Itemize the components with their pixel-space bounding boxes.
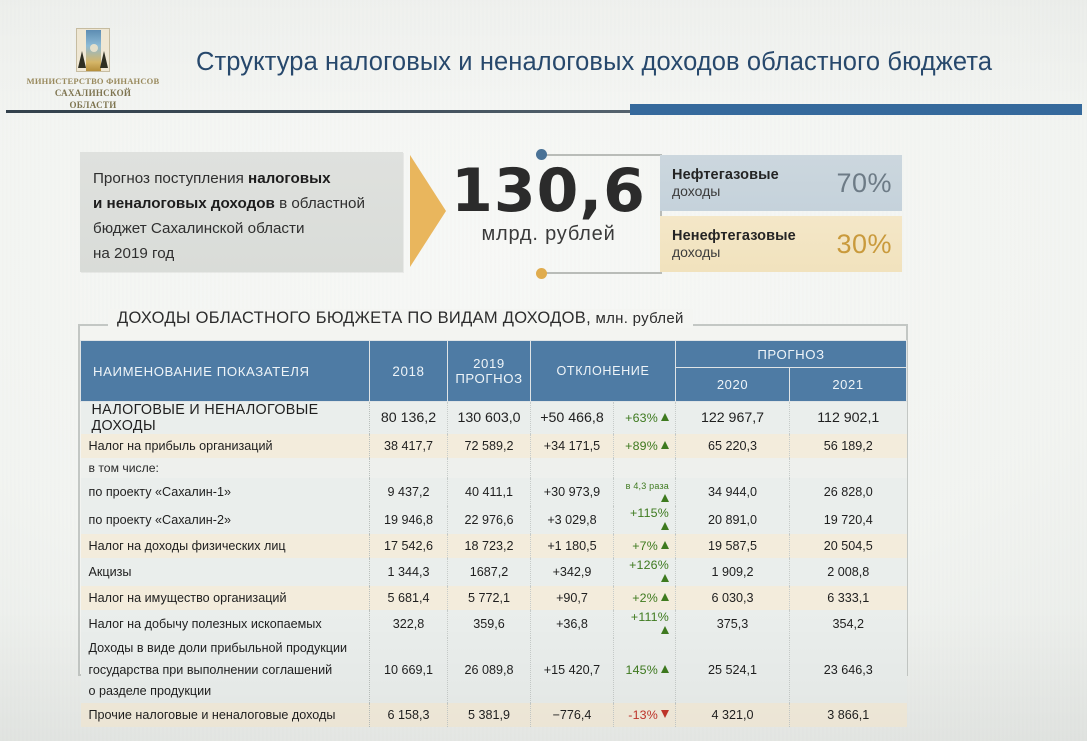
cell-2020: 4 321,0: [676, 703, 790, 727]
logo-line-1: МИНИСТЕРСТВО ФИНАНСОВ: [8, 76, 178, 86]
cell-deviation: −776,4: [531, 703, 614, 727]
cell-2019: 5 381,9: [448, 703, 531, 727]
slide-canvas: МИНИСТЕРСТВО ФИНАНСОВ САХАЛИНСКОЙ ОБЛАСТ…: [0, 0, 1087, 741]
arrow-up-icon: [661, 574, 669, 582]
row-label: Налог на доходы физических лиц: [81, 534, 370, 558]
logo-line-3: ОБЛАСТИ: [8, 100, 178, 110]
table-row: Налог на прибыль организаций 38 417,7 72…: [81, 434, 907, 458]
breakdown-value-oil-gas: 70%: [836, 168, 902, 199]
row-label: Налог на имущество организаций: [81, 586, 370, 610]
cell-2018: 5 681,4: [370, 586, 448, 610]
cell-2018: 1 344,3: [370, 558, 448, 586]
table-row: НАЛОГОВЫЕ И НЕНАЛОГОВЫЕ ДОХОДЫ 80 136,2 …: [81, 402, 907, 435]
forecast-description-line-1: Прогноз поступления налоговых: [93, 166, 391, 191]
row-label: Налог на прибыль организаций: [81, 434, 370, 458]
col-header-2019-line2: прогноз: [448, 371, 530, 386]
row-label-line3: о разделе продукции: [89, 681, 362, 703]
col-header-2019-line1: 2019: [448, 356, 530, 371]
breakdown-connector: [536, 154, 662, 274]
connector-line-top: [544, 154, 662, 156]
breakdown-label-non-oil-gas: Ненефтегазовые доходы: [660, 228, 836, 260]
logo-line-2: САХАЛИНСКОЙ: [8, 88, 178, 98]
spacer-cell: [676, 458, 790, 478]
row-label-line1: Доходы в виде доли прибыльной продукции: [89, 638, 362, 660]
row-label: по проекту «Сахалин-1»: [81, 478, 370, 506]
row-label: Акцизы: [81, 558, 370, 586]
table-row: Доходы в виде доли прибыльной продукции …: [81, 638, 907, 703]
breakdown-row-non-oil-gas: Ненефтегазовые доходы 30%: [660, 216, 902, 272]
crest-tree-right: [100, 51, 108, 68]
spacer-cell: [370, 458, 448, 478]
budget-table-caption: ДОХОДЫ ОБЛАСТНОГО БЮДЖЕТА ПО ВИДАМ ДОХОД…: [108, 309, 693, 328]
cell-trend: -13%: [614, 703, 676, 727]
budget-revenue-table: НАИМЕНОВАНИЕ ПОКАЗАТЕЛЯ 2018 2019 прогно…: [80, 340, 907, 727]
cell-2020: 65 220,3: [676, 434, 790, 458]
cell-trend: 145%: [614, 638, 676, 703]
table-header-row-1: НАИМЕНОВАНИЕ ПОКАЗАТЕЛЯ 2018 2019 прогно…: [81, 341, 907, 368]
cell-trend: +7%: [614, 534, 676, 558]
table-row: Налог на добычу полезных ископаемых 322,…: [81, 610, 907, 638]
spacer-cell: [790, 458, 907, 478]
cell-trend: +126%: [614, 558, 676, 586]
cell-trend: +115%: [614, 506, 676, 534]
trend-value: в 4,3 раза: [626, 481, 669, 491]
trend-value: +111%: [631, 610, 669, 624]
col-header-2018: 2018: [370, 341, 448, 402]
cell-2021: 56 189,2: [790, 434, 907, 458]
cell-2021: 112 902,1: [790, 402, 907, 435]
cell-2018: 6 158,3: [370, 703, 448, 727]
forecast-description-box: Прогноз поступления налоговых и неналого…: [80, 152, 403, 272]
arrow-up-icon: [661, 494, 669, 502]
cell-2018: 9 437,2: [370, 478, 448, 506]
cell-trend: +63%: [614, 402, 676, 435]
trend-value: +115%: [630, 506, 669, 520]
cell-2020: 20 891,0: [676, 506, 790, 534]
table-row: по проекту «Сахалин-2» 19 946,8 22 976,6…: [81, 506, 907, 534]
cell-2021: 20 504,5: [790, 534, 907, 558]
table-row: Прочие налоговые и неналоговые доходы 6 …: [81, 703, 907, 727]
row-label-line2: государства при выполнении соглашений: [89, 660, 362, 682]
right-triangle-icon: [410, 155, 446, 267]
col-header-deviation: ОТКЛОНЕНИЕ: [531, 341, 676, 402]
sakhalin-coat-of-arms-icon: [76, 28, 110, 72]
cell-2021: 6 333,1: [790, 586, 907, 610]
crest-sun: [90, 44, 98, 52]
row-label: Налог на добычу полезных ископаемых: [81, 610, 370, 638]
cell-2019: 18 723,2: [448, 534, 531, 558]
cell-2019: 1687,2: [448, 558, 531, 586]
cell-deviation: +15 420,7: [531, 638, 614, 703]
forecast-description-line-2: и неналоговых доходов в областной: [93, 191, 391, 216]
breakdown-label-oil-gas-line2: доходы: [672, 183, 836, 199]
arrow-up-icon: [661, 593, 669, 601]
page-title: Структура налоговых и неналоговых доходо…: [196, 48, 1072, 77]
gold-dot-icon: [536, 268, 547, 279]
breakdown-value-non-oil-gas: 30%: [836, 229, 902, 260]
table-header: НАИМЕНОВАНИЕ ПОКАЗАТЕЛЯ 2018 2019 прогно…: [81, 341, 907, 402]
trend-value: +7%: [632, 539, 658, 553]
forecast-description-line-4: на 2019 год: [93, 241, 391, 266]
cell-deviation: +50 466,8: [531, 402, 614, 435]
trend-value: +89%: [625, 439, 658, 453]
cell-2018: 80 136,2: [370, 402, 448, 435]
arrow-up-icon: [661, 665, 669, 673]
trend-value: +63%: [625, 411, 658, 425]
spacer-cell: [448, 458, 531, 478]
crest-tree-left: [78, 51, 86, 68]
arrow-up-icon: [661, 541, 669, 549]
cell-2020: 6 030,3: [676, 586, 790, 610]
col-header-forecast-group: ПРОГНОЗ: [676, 341, 907, 368]
cell-2019: 359,6: [448, 610, 531, 638]
cell-2018: 17 542,6: [370, 534, 448, 558]
ministry-logo: МИНИСТЕРСТВО ФИНАНСОВ САХАЛИНСКОЙ ОБЛАСТ…: [8, 28, 178, 110]
cell-2021: 23 646,3: [790, 638, 907, 703]
trend-value: +2%: [632, 591, 658, 605]
spacer-cell: [614, 458, 676, 478]
trend-value: -13%: [628, 708, 658, 722]
section-label: в том числе:: [81, 458, 370, 478]
arrow-up-icon: [661, 441, 669, 449]
cell-2019: 5 772,1: [448, 586, 531, 610]
arrow-down-icon: [661, 710, 669, 718]
cell-2021: 2 008,8: [790, 558, 907, 586]
cell-2021: 19 720,4: [790, 506, 907, 534]
cell-2020: 375,3: [676, 610, 790, 638]
cell-deviation: +90,7: [531, 586, 614, 610]
table-row: Налог на имущество организаций 5 681,4 5…: [81, 586, 907, 610]
cell-2021: 3 866,1: [790, 703, 907, 727]
cell-2018: 322,8: [370, 610, 448, 638]
col-header-2020: 2020: [676, 368, 790, 402]
arrow-up-icon: [661, 522, 669, 530]
row-label: по проекту «Сахалин-2»: [81, 506, 370, 534]
cell-deviation: +1 180,5: [531, 534, 614, 558]
cell-2018: 19 946,8: [370, 506, 448, 534]
cell-2020: 122 967,7: [676, 402, 790, 435]
cell-deviation: +3 029,8: [531, 506, 614, 534]
arrow-up-icon: [661, 626, 669, 634]
trend-value: +126%: [629, 558, 669, 572]
breakdown-row-oil-gas: Нефтегазовые доходы 70%: [660, 155, 902, 211]
trend-value: 145%: [626, 663, 659, 677]
cell-deviation: +34 171,5: [531, 434, 614, 458]
cell-2021: 354,2: [790, 610, 907, 638]
row-label: Доходы в виде доли прибыльной продукции …: [81, 638, 370, 703]
table-body: НАЛОГОВЫЕ И НЕНАЛОГОВЫЕ ДОХОДЫ 80 136,2 …: [81, 402, 907, 727]
table-section-separator: в том числе:: [81, 458, 907, 478]
table-row: по проекту «Сахалин-1» 9 437,2 40 411,1 …: [81, 478, 907, 506]
breakdown-label-oil-gas: Нефтегазовые доходы: [660, 167, 836, 199]
table-row: Акцизы 1 344,3 1687,2 +342,9 +126% 1 909…: [81, 558, 907, 586]
cell-deviation: +30 973,9: [531, 478, 614, 506]
cell-2019: 40 411,1: [448, 478, 531, 506]
cell-2020: 34 944,0: [676, 478, 790, 506]
cell-2019: 26 089,8: [448, 638, 531, 703]
cell-2019: 130 603,0: [448, 402, 531, 435]
cell-trend: +111%: [614, 610, 676, 638]
breakdown-label-oil-gas-line1: Нефтегазовые: [672, 167, 836, 183]
cell-trend: +2%: [614, 586, 676, 610]
cell-deviation: +36,8: [531, 610, 614, 638]
arrow-up-icon: [661, 413, 669, 421]
col-header-2019-forecast: 2019 прогноз: [448, 341, 531, 402]
cell-trend: в 4,3 раза: [614, 478, 676, 506]
spacer-cell: [531, 458, 614, 478]
cell-2018: 10 669,1: [370, 638, 448, 703]
cell-2020: 1 909,2: [676, 558, 790, 586]
forecast-description-line-3: бюджет Сахалинской области: [93, 216, 391, 241]
breakdown-label-non-oil-gas-line2: доходы: [672, 244, 836, 260]
blue-dot-icon: [536, 149, 547, 160]
col-header-indicator-name: НАИМЕНОВАНИЕ ПОКАЗАТЕЛЯ: [81, 341, 370, 402]
header-divider-accent: [630, 104, 1082, 115]
header-divider-thin: [6, 110, 642, 113]
cell-2021: 26 828,0: [790, 478, 907, 506]
cell-deviation: +342,9: [531, 558, 614, 586]
cell-2020: 25 524,1: [676, 638, 790, 703]
row-label: НАЛОГОВЫЕ И НЕНАЛОГОВЫЕ ДОХОДЫ: [81, 402, 370, 435]
row-label: Прочие налоговые и неналоговые доходы: [81, 703, 370, 727]
cell-2020: 19 587,5: [676, 534, 790, 558]
col-header-2021: 2021: [790, 368, 907, 402]
cell-2019: 22 976,6: [448, 506, 531, 534]
connector-line-bottom: [544, 272, 662, 274]
cell-2019: 72 589,2: [448, 434, 531, 458]
cell-2018: 38 417,7: [370, 434, 448, 458]
breakdown-label-non-oil-gas-line1: Ненефтегазовые: [672, 228, 836, 244]
table-row: Налог на доходы физических лиц 17 542,6 …: [81, 534, 907, 558]
cell-trend: +89%: [614, 434, 676, 458]
